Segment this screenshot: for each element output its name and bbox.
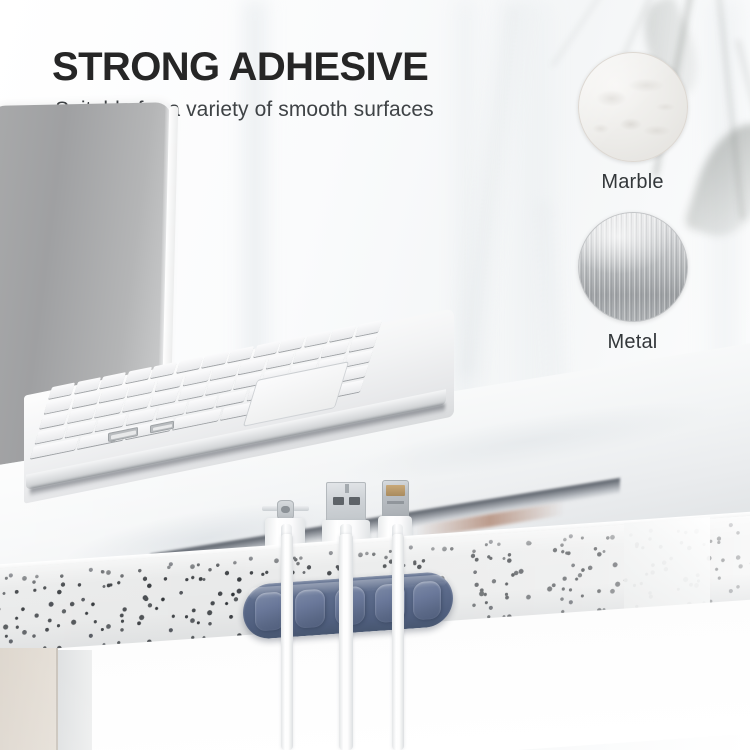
- cable-slot: [295, 589, 325, 629]
- cable-slot: [413, 580, 441, 620]
- product-image-canvas: STRONG ADHESIVE Suitable for a variety o…: [0, 0, 750, 750]
- lightning-cable: [392, 534, 404, 750]
- usb-c-connector-tip: [277, 500, 294, 520]
- marble-swatch-circle: [578, 52, 688, 162]
- usb-a-contact-slot: [349, 497, 360, 505]
- marble-swatch-label: Marble: [560, 171, 705, 194]
- usb-c-cable: [281, 534, 293, 750]
- laptop-port-group: [108, 431, 118, 443]
- usb-a-cable: [339, 534, 353, 750]
- cabinet-panel-beige: [0, 648, 58, 750]
- usb-a-contact-slot: [333, 497, 344, 505]
- metal-swatch-label: Metal: [560, 331, 705, 354]
- lightning-connector-tip: [382, 480, 409, 518]
- usb-a-connector-tip: [326, 482, 366, 522]
- swatch-item-marble: Marble: [560, 52, 705, 194]
- usb-a-seam: [345, 484, 349, 493]
- cabinet-panel-grey: [58, 650, 92, 750]
- usb-c-wing-left: [262, 506, 278, 511]
- usb-c-wing-right: [293, 506, 309, 511]
- swatch-item-metal: Metal: [560, 212, 705, 354]
- metal-swatch-circle: [578, 212, 688, 322]
- headline-title: STRONG ADHESIVE: [52, 46, 428, 88]
